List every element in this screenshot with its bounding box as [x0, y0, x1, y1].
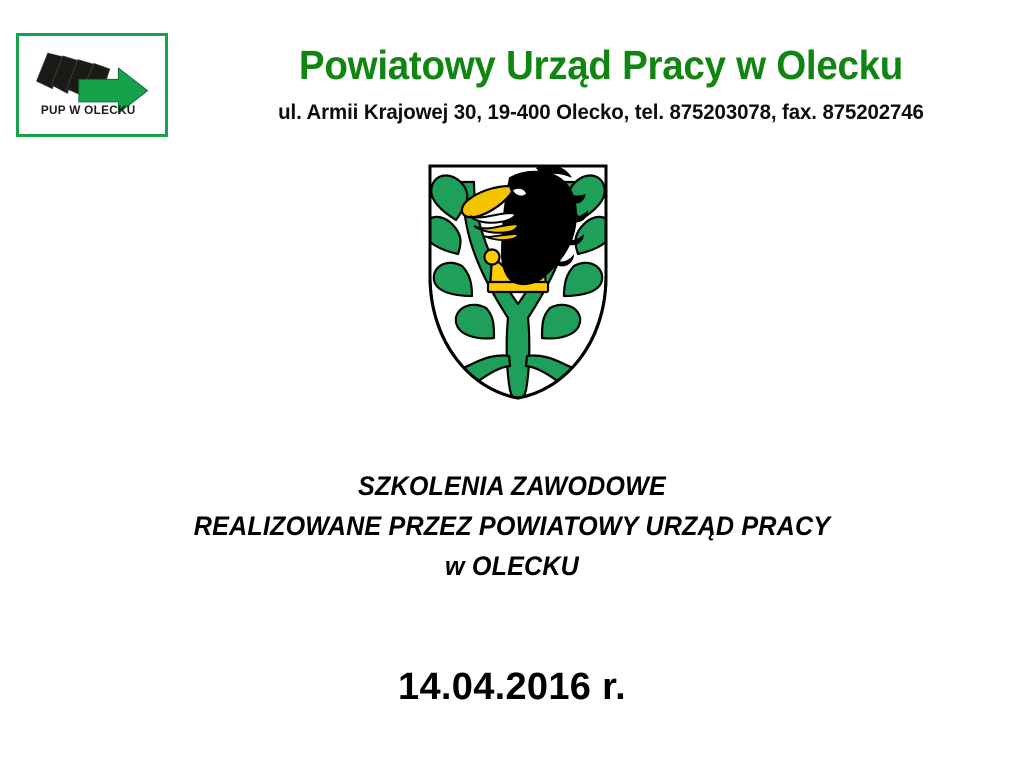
- event-date: 14.04.2016 r.: [62, 663, 962, 711]
- organization-address: ul. Armii Krajowej 30, 19-400 Olecko, te…: [207, 98, 996, 126]
- logo-caption-text: PUP W OLECKU: [41, 104, 136, 117]
- page-title: Powiatowy Urząd Pracy w Olecku: [211, 40, 991, 90]
- subject-line-2: REALIZOWANE PRZEZ POWIATOWY URZĄD PRACY: [94, 506, 931, 546]
- pup-w-olecku-logo: PUP W OLECKU: [16, 33, 168, 137]
- logo-graphic: PUP W OLECKU: [19, 36, 165, 134]
- herb-olecka-emblem: [414, 158, 622, 406]
- subject-text-block: SZKOLENIA ZAWODOWE REALIZOWANE PRZEZ POW…: [94, 466, 931, 586]
- slide-header: PUP W OLECKU Powiatowy Urząd Pracy w Ole…: [0, 0, 1024, 150]
- emblem-graphic: [414, 158, 622, 406]
- subject-line-3: w OLECKU: [94, 546, 931, 586]
- presentation-slide: PUP W OLECKU Powiatowy Urząd Pracy w Ole…: [0, 0, 1024, 768]
- subject-line-1: SZKOLENIA ZAWODOWE: [94, 466, 931, 506]
